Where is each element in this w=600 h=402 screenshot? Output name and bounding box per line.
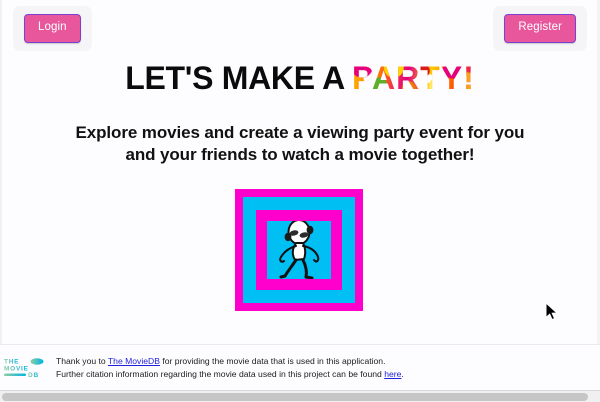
dancing-alien-gif xyxy=(235,189,363,311)
tmdb-logo-line2: MOVIE xyxy=(4,366,29,373)
horizontal-scrollbar[interactable] xyxy=(0,390,600,402)
footer-text-before-link2: Further citation information regarding t… xyxy=(56,369,384,379)
register-button[interactable]: Register xyxy=(504,14,576,43)
alien-figure-icon xyxy=(272,221,326,279)
moviedb-link[interactable]: The MovieDB xyxy=(108,356,160,366)
top-navbar: Login Register xyxy=(0,0,600,52)
horizontal-scrollbar-thumb[interactable] xyxy=(2,393,588,401)
tmdb-logo-pill xyxy=(31,358,44,365)
subtitle-line-1: Explore movies and create a viewing part… xyxy=(0,122,600,144)
tmdb-logo-line3: DB xyxy=(28,372,39,378)
footer-text-after-link1: for providing the movie data that is use… xyxy=(160,356,385,366)
citation-here-link[interactable]: here xyxy=(384,369,401,379)
gif-core-cyan xyxy=(267,221,331,279)
login-nav-card: Login xyxy=(13,6,92,51)
hero-image-container xyxy=(235,189,363,311)
tmdb-logo-bar xyxy=(4,374,26,377)
footer-text-after-link2: . xyxy=(401,369,403,379)
headline-plain-text: LET'S MAKE A xyxy=(125,60,345,96)
tmdb-logo: THE MOVIE DB xyxy=(4,357,50,378)
footer-attribution-text: Thank you to The MovieDB for providing t… xyxy=(56,355,404,380)
mouse-cursor xyxy=(545,302,559,322)
tmdb-logo-line1: THE xyxy=(4,359,19,366)
page-title: LET'S MAKE APARTY! xyxy=(0,58,600,98)
gif-ring-magenta xyxy=(256,210,342,290)
register-nav-card: Register xyxy=(493,6,587,51)
gif-ring-cyan xyxy=(243,197,355,303)
page-subtitle: Explore movies and create a viewing part… xyxy=(0,122,600,166)
footer-text-before-link1: Thank you to xyxy=(56,356,108,366)
page-footer: THE MOVIE DB Thank you to The MovieDB fo… xyxy=(0,344,600,390)
browser-viewport: Login Register LET'S MAKE APARTY! Explor… xyxy=(0,0,600,402)
login-button[interactable]: Login xyxy=(24,14,81,43)
subtitle-line-2: and your friends to watch a movie togeth… xyxy=(0,144,600,166)
headline-accent-text: PARTY! xyxy=(352,60,475,96)
footer-line-2: Further citation information regarding t… xyxy=(56,368,404,380)
footer-line-1: Thank you to The MovieDB for providing t… xyxy=(56,355,404,367)
